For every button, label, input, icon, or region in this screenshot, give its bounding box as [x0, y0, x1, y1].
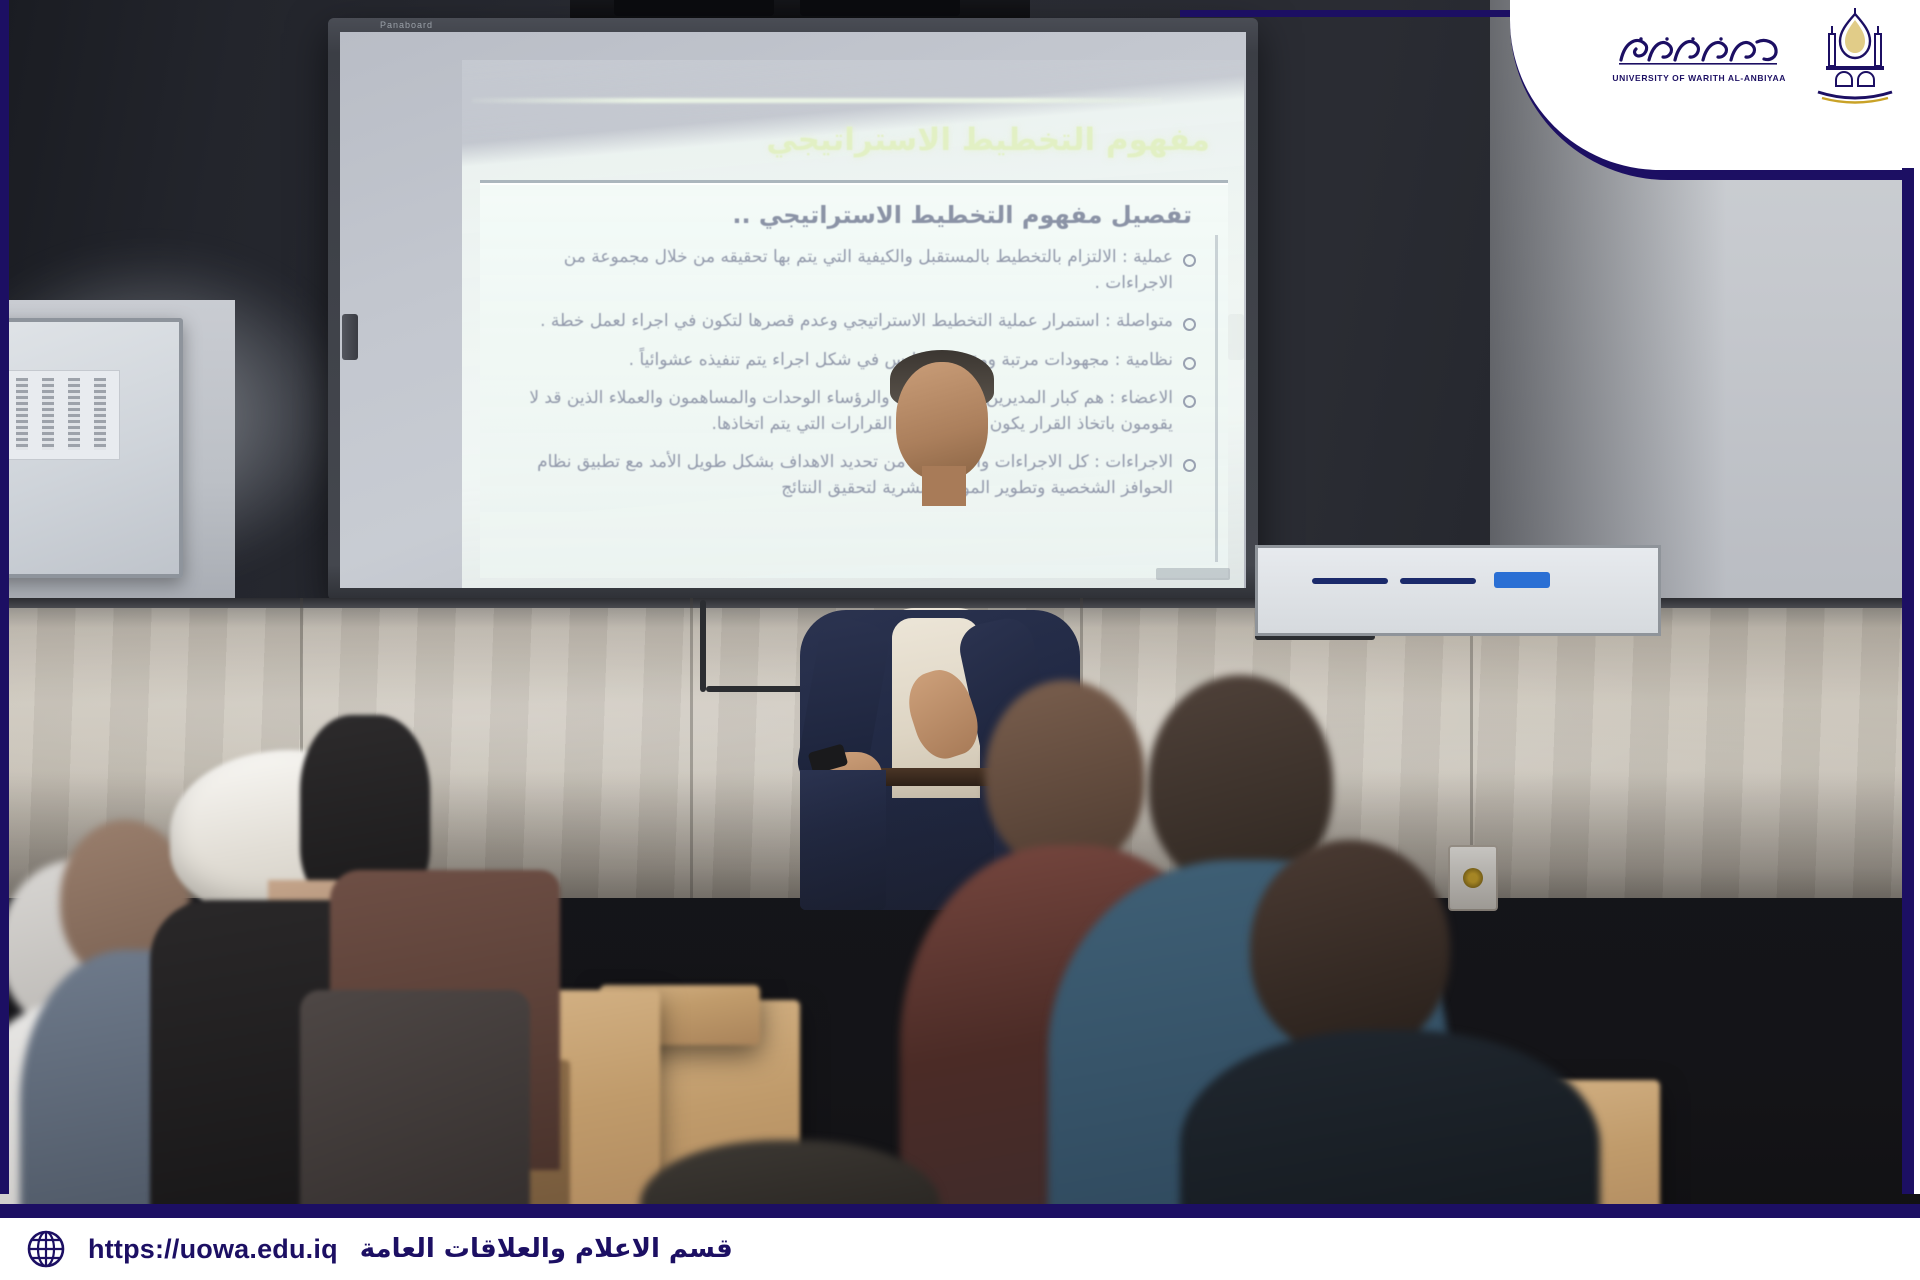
audience-head — [1250, 840, 1450, 1055]
footer-accent-rule — [0, 1204, 1920, 1218]
slide-bullet: الاعضاء : هم كبار المديرين في المنظمة وا… — [498, 386, 1196, 437]
bullet-marker-icon — [1183, 254, 1196, 267]
ceiling-speaker-left — [614, 0, 774, 16]
slide-bullet-text: متواصلة : استمرار عملية التخطيط الاسترات… — [540, 309, 1173, 335]
university-logo-text: UNIVERSITY OF WARITH AL-ANBIYAA — [1612, 73, 1786, 83]
slide-bullet: متواصلة : استمرار عملية التخطيط الاسترات… — [498, 309, 1196, 335]
whiteboard-chart-bar — [68, 378, 80, 450]
whiteboard-chart-bar — [94, 378, 106, 450]
presenter-head — [896, 362, 988, 480]
eraser — [1494, 572, 1550, 588]
ministry-logo — [1812, 8, 1898, 104]
wall-whiteboard — [0, 318, 183, 578]
slide-bullet: نظامية : مجهودات مرتبة ومقصودة وليس في ش… — [498, 348, 1196, 374]
lecture-photo: Panaboard مفهوم التخطيط الاستراتيجي تفصي… — [0, 0, 1920, 1280]
university-logo-mark-icon — [1615, 30, 1783, 70]
marker-pen — [1400, 578, 1476, 584]
bullet-marker-icon — [1183, 318, 1196, 331]
slide-bullet-text: عملية : الالتزام بالتخطيط بالمستقبل والك… — [498, 245, 1173, 296]
whiteboard-chart-bar — [16, 378, 28, 450]
slide-bullet-text: الاعضاء : هم كبار المديرين في المنظمة وا… — [498, 386, 1173, 437]
frame-left-accent — [0, 0, 9, 1194]
slide-bullet: عملية : الالتزام بالتخطيط بالمستقبل والك… — [498, 245, 1196, 296]
slide-accent-line — [472, 98, 1162, 103]
footer-bar: https://uowa.edu.iq قسم الاعلام والعلاقا… — [0, 1218, 1920, 1280]
cleric-lap — [300, 990, 530, 1230]
photo-canvas: Panaboard مفهوم التخطيط الاستراتيجي تفصي… — [0, 0, 1920, 1280]
smartboard-screen: مفهوم التخطيط الاستراتيجي تفصيل مفهوم ال… — [340, 32, 1246, 588]
bullet-marker-icon — [1183, 357, 1196, 370]
slide-heading: تفصيل مفهوم التخطيط الاستراتيجي .. — [498, 201, 1192, 229]
bullet-marker-icon — [1183, 459, 1196, 472]
website-url[interactable]: https://uowa.edu.iq — [88, 1234, 338, 1265]
department-name: قسم الاعلام والعلاقات العامة — [360, 1234, 733, 1264]
whiteboard-chart-bar — [42, 378, 54, 450]
slide-title: مفهوم التخطيط الاستراتيجي — [570, 122, 1210, 158]
presenter-neck — [922, 466, 966, 506]
logo-group: UNIVERSITY OF WARITH AL-ANBIYAA — [1612, 8, 1898, 104]
university-logo: UNIVERSITY OF WARITH AL-ANBIYAA — [1612, 30, 1786, 83]
marker-pen — [1312, 578, 1388, 584]
globe-icon — [26, 1229, 66, 1269]
smartboard-side-clip — [342, 314, 358, 360]
audience-head — [985, 680, 1145, 870]
side-whiteboard — [1255, 545, 1661, 636]
smartboard: Panaboard مفهوم التخطيط الاستراتيجي تفصي… — [328, 18, 1258, 600]
ceiling-speaker-right — [800, 0, 960, 16]
frame-right-white-edge — [1914, 168, 1920, 1194]
frame-top-accent — [1180, 10, 1510, 17]
bullet-marker-icon — [1183, 395, 1196, 408]
board-cable — [700, 600, 706, 692]
slide-footer-logo — [1156, 568, 1230, 580]
smartboard-brand-label: Panaboard — [380, 20, 433, 30]
